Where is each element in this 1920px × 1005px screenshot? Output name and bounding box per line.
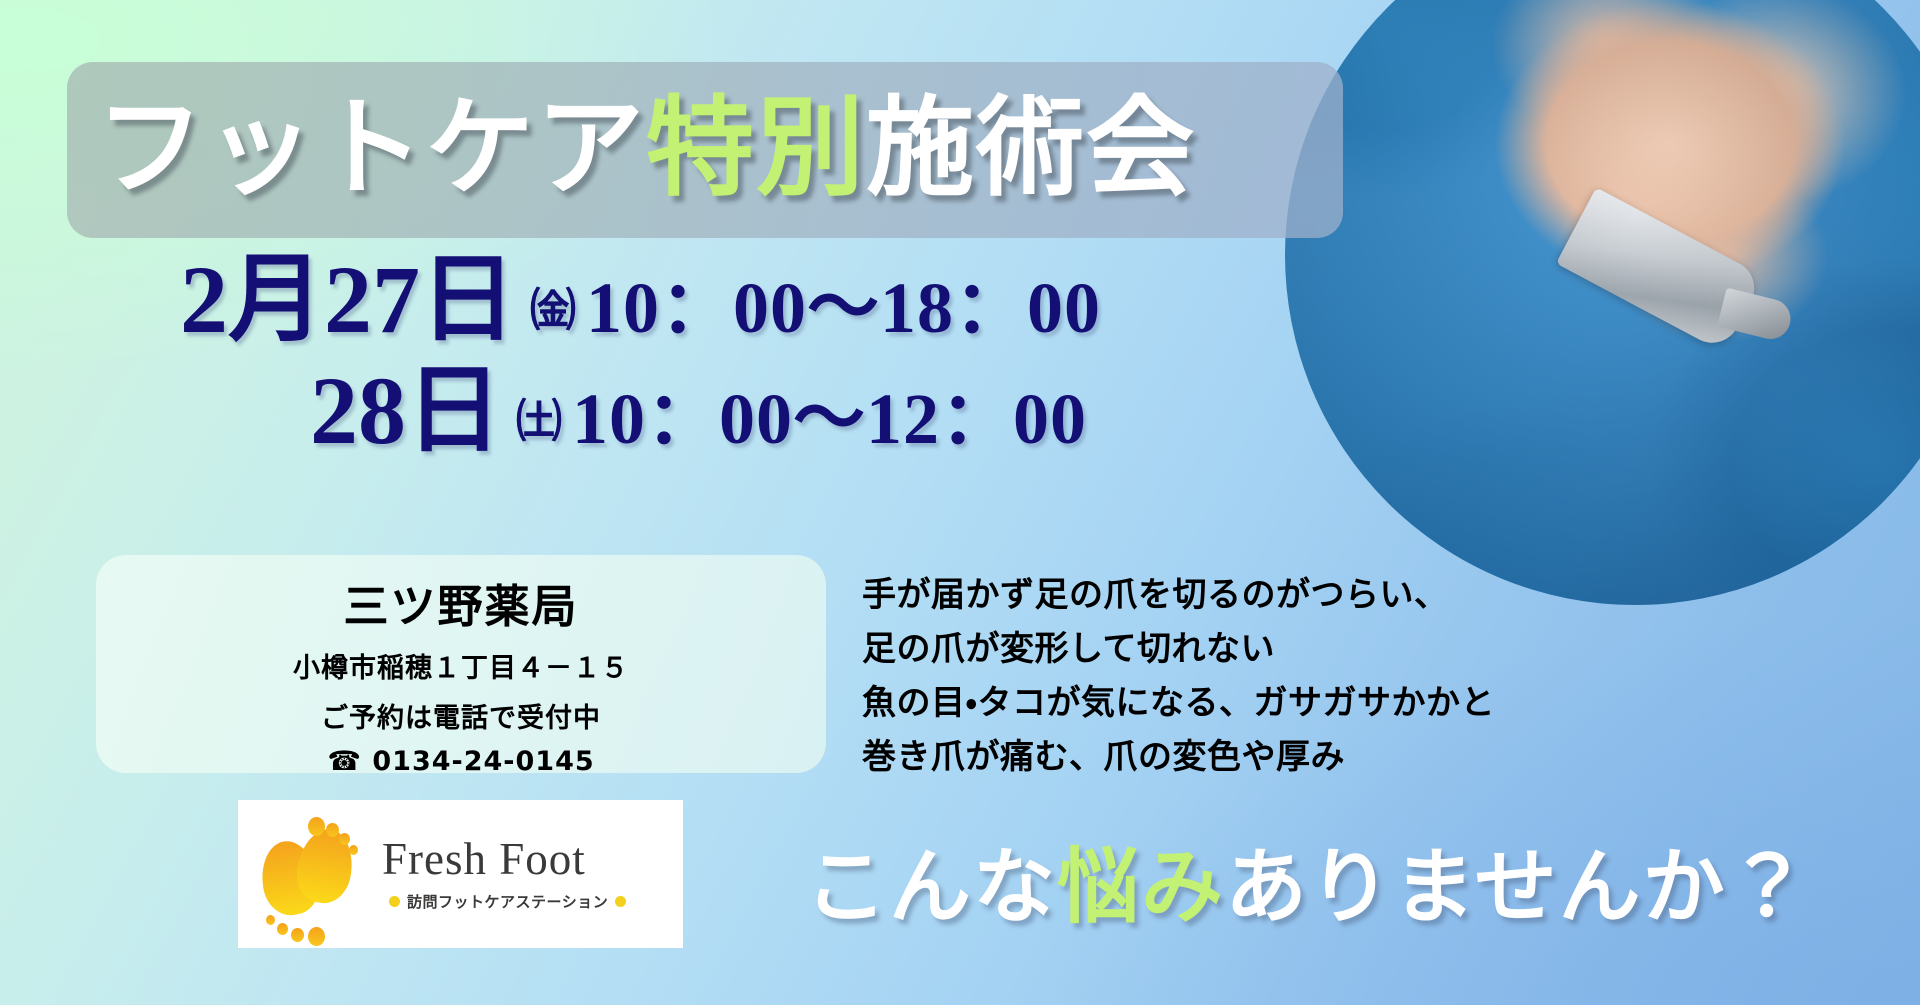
- toe-icon: [277, 923, 288, 935]
- symptom-line: 足の爪が変形して切れない: [862, 622, 1495, 676]
- logo-name: Fresh Foot: [382, 837, 633, 882]
- pharmacy-name: 三ツ野薬局: [96, 570, 826, 635]
- toe-icon: [349, 845, 358, 855]
- schedule-block: 2月27日 ㈮ 10：00～18：00 28日 ㈯ 10：00～12：00: [180, 248, 1300, 464]
- toe-icon: [326, 823, 339, 837]
- title-part-1: フットケア: [96, 86, 646, 211]
- toe-icon: [339, 833, 350, 845]
- pharmacy-phone[interactable]: ☎ 0134-24-0145: [96, 746, 826, 777]
- schedule-time: 10：00～12：00: [572, 359, 1087, 464]
- title-highlight: 特別: [646, 86, 866, 211]
- toe-icon: [308, 927, 325, 946]
- toe-icon: [266, 915, 275, 925]
- poster-canvas: フットケア特別施術会 2月27日 ㈮ 10：00～18：00 28日 ㈯ 10：…: [0, 0, 1920, 1005]
- symptom-line: 手が届かず足の爪を切るのがつらい、: [862, 568, 1495, 622]
- schedule-weekday: ㈯: [516, 385, 562, 451]
- foot-care-photo: [1285, 0, 1920, 605]
- fresh-foot-logo: Fresh Foot 訪問フットケアステーション: [238, 800, 683, 948]
- schedule-date: 28日: [310, 360, 502, 462]
- logo-subtitle: 訪問フットケアステーション: [407, 891, 608, 912]
- bullet-dot-icon: [389, 896, 400, 907]
- symptoms-list: 手が届かず足の爪を切るのがつらい、 足の爪が変形して切れない 魚の目・タコが気に…: [862, 568, 1495, 784]
- symptom-line: 魚の目・タコが気になる、ガサガサかかと: [862, 676, 1495, 730]
- schedule-row: 28日 ㈯ 10：00～12：00: [180, 359, 1300, 464]
- tagline-part-2: ありませんか？: [1225, 840, 1811, 935]
- tagline-part-1: こんな: [805, 840, 1057, 935]
- symptom-line: 巻き爪が痛む、爪の変色や厚み: [862, 730, 1495, 784]
- schedule-weekday: ㈮: [530, 274, 576, 340]
- pharmacy-info: 三ツ野薬局 小樽市稲穂１丁目４－１５ ご予約は電話で受付中 ☎ 0134-24-…: [96, 562, 826, 777]
- schedule-date: 2月27日: [180, 249, 516, 351]
- pharmacy-address: 小樽市稲穂１丁目４－１５: [96, 646, 826, 685]
- toe-icon: [291, 928, 304, 942]
- schedule-row: 2月27日 ㈮ 10：00～18：00: [180, 248, 1300, 353]
- footprint-icon: [250, 815, 368, 933]
- logo-text-group: Fresh Foot 訪問フットケアステーション: [382, 837, 633, 912]
- logo-subtitle-row: 訪問フットケアステーション: [382, 891, 633, 912]
- tagline: こんな悩みありませんか？: [805, 820, 1811, 939]
- schedule-time: 10：00～18：00: [586, 248, 1101, 353]
- tagline-highlight: 悩み: [1057, 840, 1225, 935]
- bullet-dot-icon: [615, 896, 626, 907]
- photo-vignette: [1285, 0, 1920, 605]
- pharmacy-reservation-note: ご予約は電話で受付中: [96, 696, 826, 735]
- page-title: フットケア特別施術会: [96, 74, 1196, 224]
- foot-care-photo-image: [1285, 0, 1920, 605]
- title-part-2: 施術会: [866, 86, 1196, 211]
- toe-icon: [308, 817, 325, 836]
